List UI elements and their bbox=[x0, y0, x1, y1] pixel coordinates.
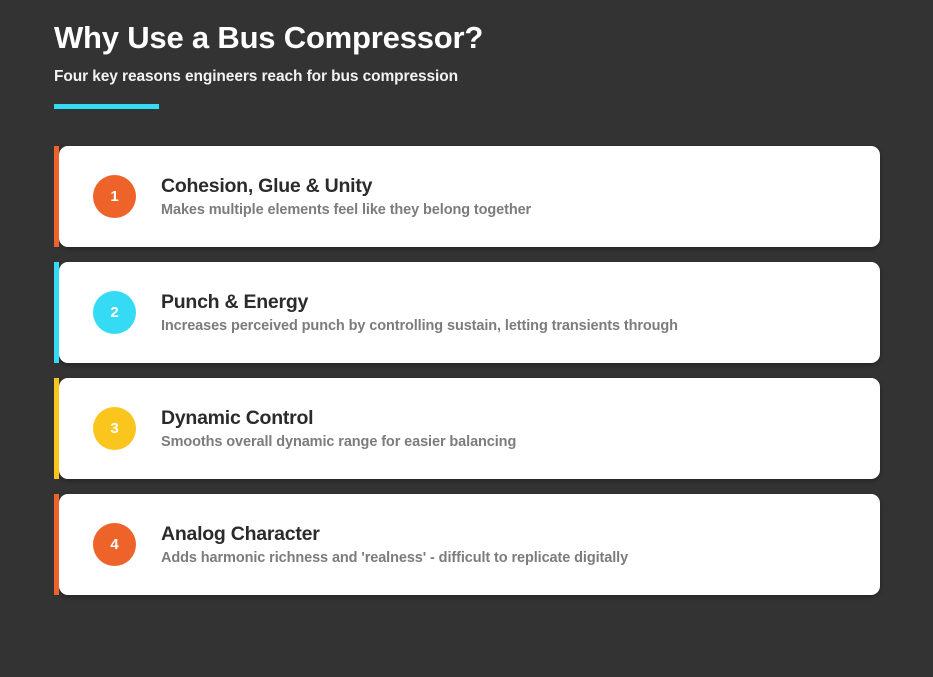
card-number-label: 2 bbox=[110, 304, 118, 321]
card-body: 2 Punch & Energy Increases perceived pun… bbox=[59, 262, 880, 363]
card-description: Adds harmonic richness and 'realness' - … bbox=[161, 546, 628, 568]
card-accent-bar bbox=[54, 146, 59, 247]
list-item[interactable]: 1 Cohesion, Glue & Unity Makes multiple … bbox=[54, 146, 880, 247]
card-body: 3 Dynamic Control Smooths overall dynami… bbox=[59, 378, 880, 479]
list-item[interactable]: 3 Dynamic Control Smooths overall dynami… bbox=[54, 378, 880, 479]
card-number-badge: 2 bbox=[93, 291, 136, 334]
card-accent-bar bbox=[54, 378, 59, 479]
card-description: Increases perceived punch by controlling… bbox=[161, 314, 678, 336]
card-body: 4 Analog Character Adds harmonic richnes… bbox=[59, 494, 880, 595]
card-title: Cohesion, Glue & Unity bbox=[161, 174, 531, 198]
card-number-badge: 4 bbox=[93, 523, 136, 566]
card-body: 1 Cohesion, Glue & Unity Makes multiple … bbox=[59, 146, 880, 247]
card-accent-bar bbox=[54, 494, 59, 595]
card-text-block: Dynamic Control Smooths overall dynamic … bbox=[136, 406, 516, 452]
card-text-block: Punch & Energy Increases perceived punch… bbox=[136, 290, 678, 336]
card-number-badge: 1 bbox=[93, 175, 136, 218]
card-number-label: 4 bbox=[110, 536, 118, 553]
card-text-block: Analog Character Adds harmonic richness … bbox=[136, 522, 628, 568]
card-title: Punch & Energy bbox=[161, 290, 678, 314]
list-item[interactable]: 2 Punch & Energy Increases perceived pun… bbox=[54, 262, 880, 363]
card-number-label: 1 bbox=[110, 188, 118, 205]
card-text-block: Cohesion, Glue & Unity Makes multiple el… bbox=[136, 174, 531, 220]
card-title: Dynamic Control bbox=[161, 406, 516, 430]
card-title: Analog Character bbox=[161, 522, 628, 546]
card-number-badge: 3 bbox=[93, 407, 136, 450]
reasons-card-list: 1 Cohesion, Glue & Unity Makes multiple … bbox=[54, 146, 880, 595]
card-description: Smooths overall dynamic range for easier… bbox=[161, 430, 516, 452]
card-number-label: 3 bbox=[110, 420, 118, 437]
list-item[interactable]: 4 Analog Character Adds harmonic richnes… bbox=[54, 494, 880, 595]
page-subtitle: Four key reasons engineers reach for bus… bbox=[54, 58, 894, 87]
slide-header: Why Use a Bus Compressor? Four key reaso… bbox=[54, 18, 894, 109]
slide-root: Why Use a Bus Compressor? Four key reaso… bbox=[0, 0, 933, 677]
title-underline-rule bbox=[54, 104, 159, 109]
card-accent-bar bbox=[54, 262, 59, 363]
page-title: Why Use a Bus Compressor? bbox=[54, 18, 894, 58]
card-description: Makes multiple elements feel like they b… bbox=[161, 198, 531, 220]
